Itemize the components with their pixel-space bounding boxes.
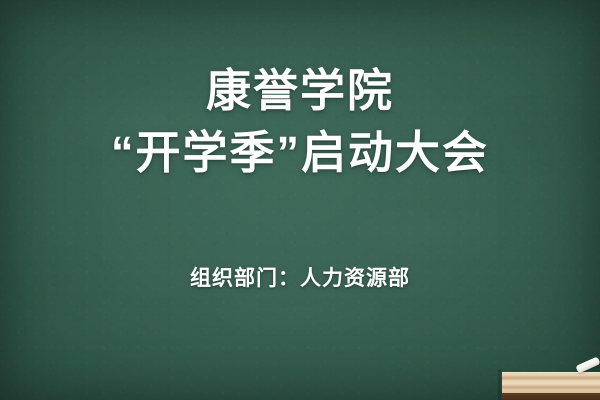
chalk-tray-surface: [502, 372, 600, 393]
slide-title-line-1: 康誉学院: [206, 62, 394, 120]
slide-title-line-2: “开学季”启动大会: [111, 124, 489, 182]
slide-subtitle: 组织部门：人力资源部: [190, 266, 410, 292]
chalk-tray: [502, 372, 600, 400]
slide-content: 康誉学院 “开学季”启动大会 组织部门：人力资源部: [0, 0, 600, 400]
chalkboard-slide: 康誉学院 “开学季”启动大会 组织部门：人力资源部: [0, 0, 600, 400]
chalk-tray-base: [502, 393, 600, 400]
